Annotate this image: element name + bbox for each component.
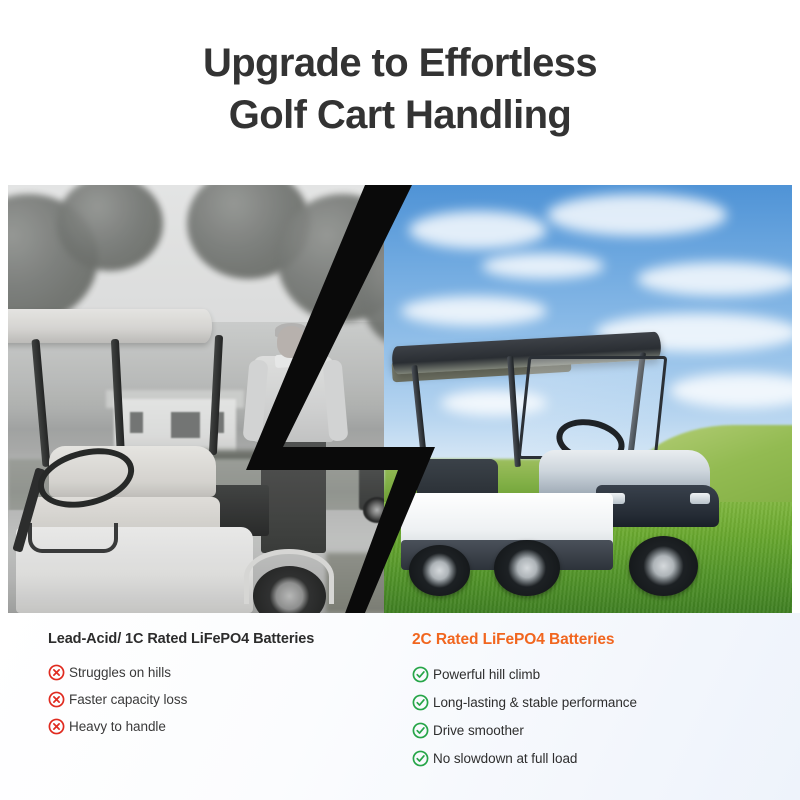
cloud-icon <box>637 262 792 296</box>
cloud-icon <box>482 253 604 279</box>
headline-line-1: Upgrade to Effortless <box>203 37 597 89</box>
list-item-label: Struggles on hills <box>69 665 171 680</box>
cart-wheel-rear <box>409 545 470 596</box>
list-item-label: Faster capacity loss <box>69 692 187 707</box>
headlight-icon <box>690 493 710 504</box>
cloud-icon <box>409 211 548 250</box>
headline-line-2: Golf Cart Handling <box>229 89 572 141</box>
check-circle-icon <box>412 666 429 683</box>
comparison-column-negative: Lead-Acid/ 1C Rated LiFePO4 Batteries St… <box>48 613 348 745</box>
check-circle-icon <box>412 694 429 711</box>
cart-canopy <box>8 309 212 343</box>
list-item: Long-lasting & stable performance <box>412 694 772 711</box>
x-circle-icon <box>48 691 65 708</box>
list-item: No slowdown at full load <box>412 750 772 767</box>
canopy-post <box>31 339 50 468</box>
after-photo <box>384 185 792 613</box>
list-item-label: No slowdown at full load <box>433 751 577 766</box>
list-item-label: Drive smoother <box>433 723 524 738</box>
cloud-icon <box>547 194 726 237</box>
list-item-label: Powerful hill climb <box>433 667 540 682</box>
x-circle-icon <box>48 664 65 681</box>
x-circle-icon <box>48 718 65 735</box>
man-pants <box>261 433 326 553</box>
list-item: Drive smoother <box>412 722 772 739</box>
negative-bullet-list: Struggles on hills Faster capacity loss … <box>48 664 348 735</box>
positive-bullet-list: Powerful hill climb Long-lasting & stabl… <box>412 666 772 767</box>
cloud-icon <box>401 296 548 326</box>
comparison-column-positive: 2C Rated LiFePO4 Batteries Powerful hill… <box>412 613 772 778</box>
window-icon <box>171 412 200 438</box>
headline-block: Upgrade to Effortless Golf Cart Handling <box>0 0 800 185</box>
list-item: Powerful hill climb <box>412 666 772 683</box>
negative-column-title: Lead-Acid/ 1C Rated LiFePO4 Batteries <box>48 631 348 647</box>
window-icon <box>130 412 142 433</box>
comparison-section: Lead-Acid/ 1C Rated LiFePO4 Batteries St… <box>0 613 800 800</box>
after-scene <box>384 185 792 613</box>
list-item: Faster capacity loss <box>48 691 348 708</box>
list-item: Struggles on hills <box>48 664 348 681</box>
hero-photo-band <box>8 185 792 613</box>
cart-wheel-mid <box>494 540 559 596</box>
before-scene <box>8 185 416 613</box>
cart-wheel-front <box>629 536 698 596</box>
man-head <box>277 326 306 358</box>
check-circle-icon <box>412 722 429 739</box>
list-item: Heavy to handle <box>48 718 348 735</box>
positive-column-title: 2C Rated LiFePO4 Batteries <box>412 631 772 649</box>
check-circle-icon <box>412 750 429 767</box>
cart-grab-bar <box>28 523 118 553</box>
list-item-label: Long-lasting & stable performance <box>433 695 637 710</box>
list-item-label: Heavy to handle <box>69 719 166 734</box>
cloud-icon <box>670 373 792 407</box>
cart-front-fascia <box>596 485 718 528</box>
before-photo <box>8 185 416 613</box>
